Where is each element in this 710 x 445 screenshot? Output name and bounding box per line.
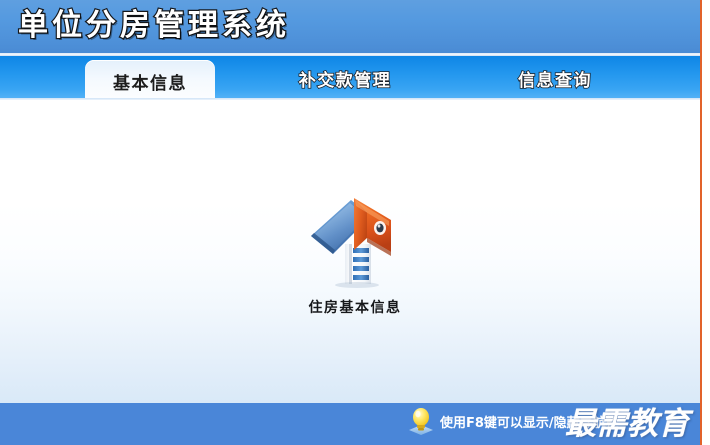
tab-bar: 基本信息 补交款管理 信息查询	[0, 56, 710, 100]
tab-label: 基本信息	[113, 69, 187, 94]
tab-label: 补交款管理	[299, 66, 392, 91]
tab-payment-management[interactable]: 补交款管理	[275, 56, 415, 100]
app-header: 单位分房管理系统	[0, 0, 710, 53]
application-window: 单位分房管理系统 基本信息 补交款管理 信息查询	[0, 0, 710, 445]
tab-label: 信息查询	[518, 66, 592, 91]
shortcut-housing-basic-info[interactable]: 住房基本信息	[272, 192, 438, 317]
window-right-margin	[702, 0, 710, 445]
tab-information-query[interactable]: 信息查询	[495, 56, 615, 100]
shortcut-label: 住房基本信息	[272, 297, 438, 317]
status-hint-text: 使用F8键可以显示/隐藏导航栏	[440, 412, 619, 431]
main-content-area: 住房基本信息	[0, 100, 710, 403]
house-icon	[305, 192, 405, 288]
window-right-border	[700, 0, 702, 445]
page-title: 单位分房管理系统	[18, 4, 290, 48]
tab-basic-info[interactable]: 基本信息	[85, 60, 215, 100]
lightbulb-icon	[406, 405, 436, 437]
